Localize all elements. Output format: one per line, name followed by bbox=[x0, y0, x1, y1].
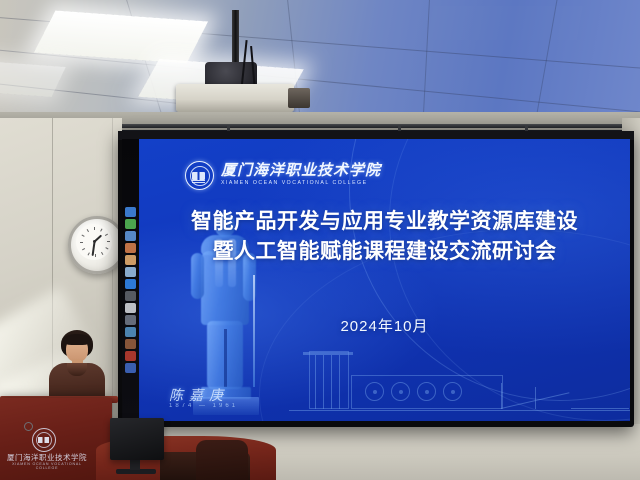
slide-title-line-2: 暨人工智能赋能课程建设交流研讨会 bbox=[139, 237, 630, 267]
statue-years: 1874 — 1961 bbox=[169, 403, 238, 409]
ceiling bbox=[0, 0, 640, 118]
clock-tick bbox=[87, 229, 89, 232]
college-name-en: XIAMEN OCEAN VOCATIONAL COLLEGE bbox=[221, 181, 381, 186]
presenter bbox=[45, 330, 107, 405]
lighting-track bbox=[100, 124, 640, 128]
dock-app-icon[interactable] bbox=[125, 363, 136, 373]
ceiling-tile bbox=[427, 6, 583, 40]
clock-tick bbox=[95, 254, 96, 257]
campus-wing bbox=[571, 408, 629, 409]
clock-tick bbox=[105, 234, 108, 236]
campus-window-circle bbox=[391, 382, 410, 401]
campus-window-circle bbox=[365, 382, 384, 401]
podium-emblem-icon bbox=[32, 428, 56, 452]
college-emblem-icon bbox=[185, 161, 214, 190]
display-screen[interactable]: 厦门海洋职业技术学院 XIAMEN OCEAN VOCATIONAL COLLE… bbox=[122, 139, 630, 421]
statue-leg-gap bbox=[224, 329, 227, 387]
clock-tick bbox=[80, 242, 83, 243]
dock-app-icon[interactable] bbox=[125, 267, 136, 277]
college-name-block: 厦门海洋职业技术学院 XIAMEN OCEAN VOCATIONAL COLLE… bbox=[221, 164, 381, 186]
chair bbox=[196, 440, 248, 480]
statue-signature: 陈嘉庚 bbox=[169, 385, 229, 405]
campus-column bbox=[339, 355, 340, 409]
slide-header: 厦门海洋职业技术学院 XIAMEN OCEAN VOCATIONAL COLLE… bbox=[185, 161, 381, 190]
dock-app-icon[interactable] bbox=[125, 279, 136, 289]
campus-window-circle bbox=[417, 382, 436, 401]
clock-tick bbox=[88, 252, 90, 255]
slide-title-block: 智能产品开发与应用专业教学资源库建设 暨人工智能赋能课程建设交流研讨会 bbox=[139, 207, 630, 268]
campus-edge bbox=[535, 387, 536, 409]
dock-app-icon[interactable] bbox=[125, 351, 136, 361]
clock-tick bbox=[107, 241, 110, 242]
campus-line-art bbox=[289, 335, 630, 421]
clock-tick bbox=[82, 235, 85, 237]
dock-app-icon[interactable] bbox=[125, 243, 136, 253]
podium-emblem-book-icon bbox=[38, 437, 49, 443]
monitor-stand bbox=[130, 459, 140, 470]
presentation-slide: 厦门海洋职业技术学院 XIAMEN OCEAN VOCATIONAL COLLE… bbox=[139, 139, 630, 421]
clock-tick bbox=[101, 252, 103, 255]
projector-connector-block bbox=[288, 88, 310, 108]
ceiling-projector bbox=[176, 84, 294, 112]
clock-face bbox=[76, 224, 112, 260]
emblem-waves-icon bbox=[192, 180, 205, 184]
campus-column bbox=[323, 355, 324, 409]
dock-app-icon[interactable] bbox=[125, 291, 136, 301]
slide-title-line-1: 智能产品开发与应用专业教学资源库建设 bbox=[139, 207, 630, 237]
podium-college-name-en: XIAMEN OCEAN VOCATIONAL COLLEGE bbox=[6, 462, 88, 470]
clock-center-pin bbox=[93, 240, 96, 243]
campus-edge bbox=[501, 383, 502, 409]
campus-column bbox=[331, 355, 332, 409]
conference-room-scene: 厦门海洋职业技术学院 XIAMEN OCEAN VOCATIONAL COLLE… bbox=[0, 0, 640, 480]
dock-app-icon[interactable] bbox=[125, 315, 136, 325]
dock-app-icon[interactable] bbox=[125, 207, 136, 217]
emblem-book-icon bbox=[192, 172, 205, 180]
dock-app-icon[interactable] bbox=[125, 339, 136, 349]
dock-app-icon[interactable] bbox=[125, 219, 136, 229]
campus-window-circle bbox=[443, 382, 462, 401]
dock-app-icon[interactable] bbox=[125, 303, 136, 313]
clock-tick bbox=[105, 247, 108, 249]
campus-tower-cap bbox=[303, 352, 353, 355]
dock-app-icon[interactable] bbox=[125, 231, 136, 241]
clock-tick bbox=[94, 227, 95, 230]
monitor-logo-icon bbox=[24, 422, 33, 431]
slide-date: 2024年10月 bbox=[139, 315, 630, 336]
clock-tick bbox=[100, 229, 102, 232]
presentation-display[interactable]: 厦门海洋职业技术学院 XIAMEN OCEAN VOCATIONAL COLLE… bbox=[118, 131, 634, 427]
college-name-cn: 厦门海洋职业技术学院 bbox=[221, 164, 381, 179]
campus-column bbox=[315, 355, 316, 409]
clock-tick bbox=[82, 248, 85, 250]
ceiling-panel-light bbox=[0, 61, 66, 97]
presenter-fringe bbox=[63, 334, 91, 345]
ceiling-grid-line bbox=[420, 0, 431, 118]
dock-app-icon[interactable] bbox=[125, 327, 136, 337]
campus-ground-line bbox=[289, 410, 630, 411]
desk-monitor[interactable] bbox=[110, 418, 164, 460]
application-dock[interactable] bbox=[122, 139, 139, 421]
dock-app-icon[interactable] bbox=[125, 255, 136, 265]
